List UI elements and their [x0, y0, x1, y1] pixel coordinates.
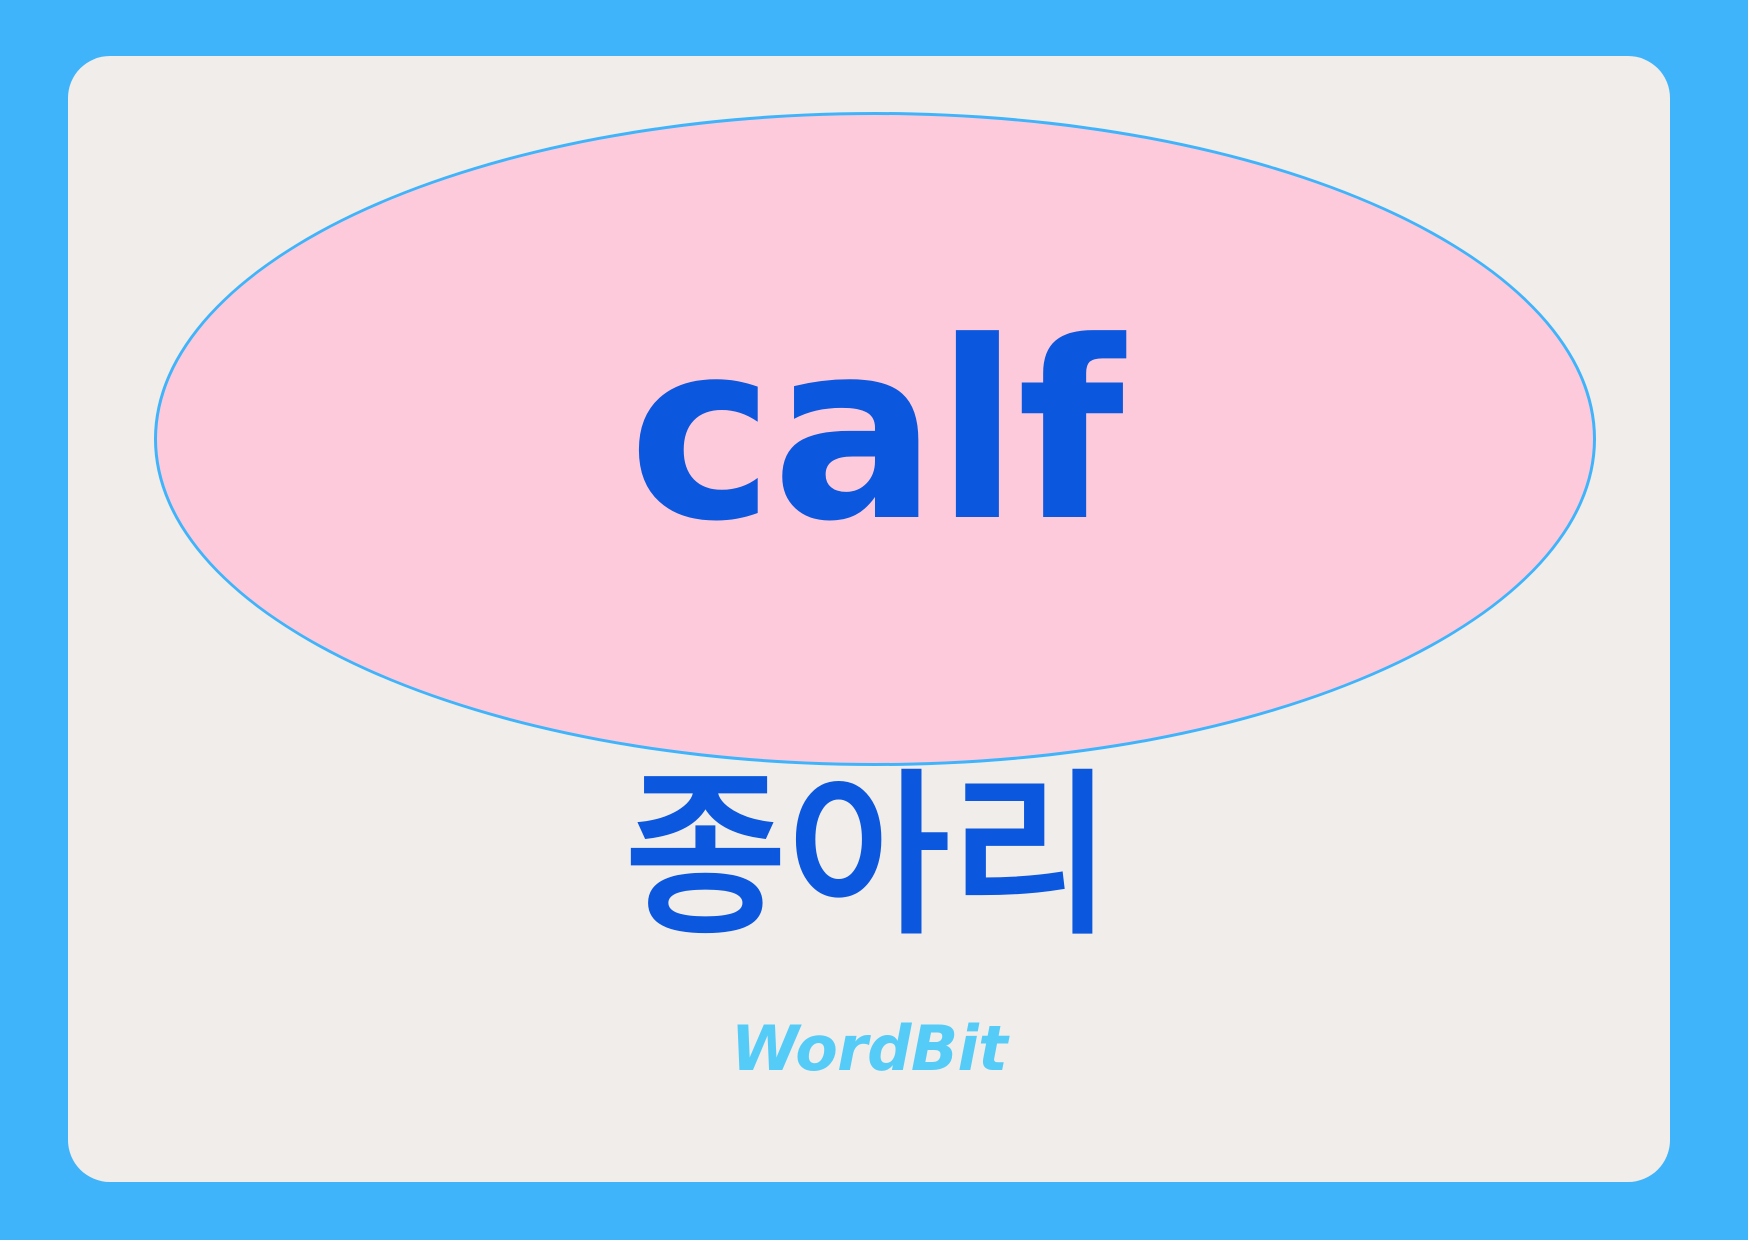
flashcard-screen: calf 종아리 WordBit	[0, 0, 1748, 1240]
term-text: calf	[628, 310, 1121, 556]
brand-container: WordBit	[68, 1018, 1670, 1080]
translation-text: 종아리	[625, 756, 1113, 958]
term-container: calf	[154, 112, 1596, 766]
vocabulary-card[interactable]: calf 종아리 WordBit	[68, 56, 1670, 1182]
brand-logo-text: WordBit	[731, 1018, 1007, 1080]
translation-container: 종아리	[68, 756, 1670, 958]
